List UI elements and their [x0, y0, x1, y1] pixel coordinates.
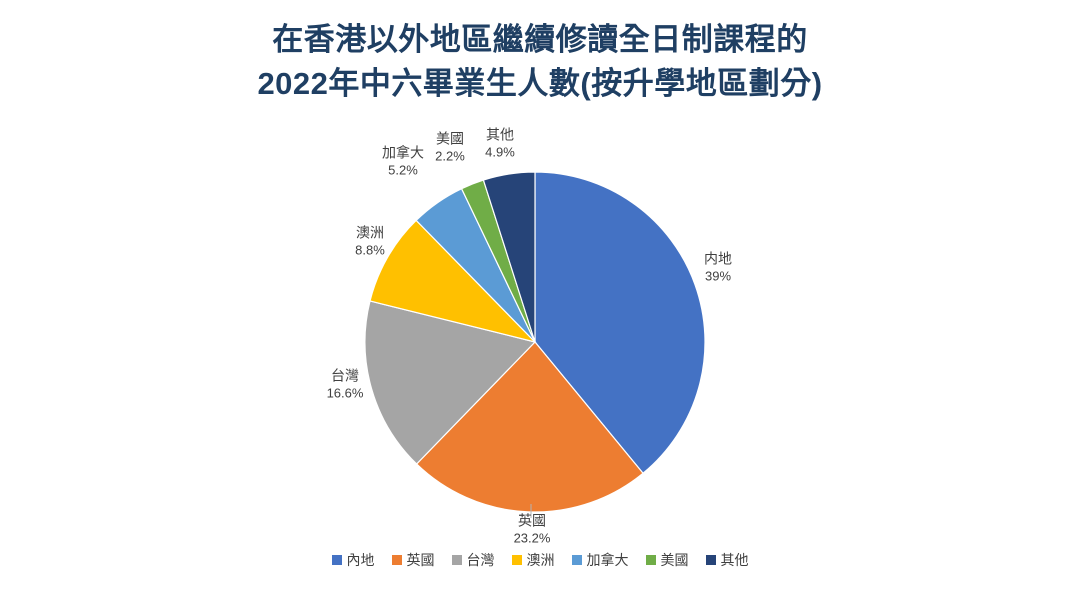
legend-label: 其他	[721, 550, 749, 570]
pie-slices-group	[365, 172, 705, 512]
legend-swatch-icon	[572, 555, 582, 565]
pie-slice-label-percent: 2.2%	[435, 149, 465, 166]
pie-slice-label-category: 美國	[435, 131, 465, 149]
legend-label: 台灣	[467, 550, 495, 570]
legend-label: 加拿大	[587, 550, 629, 570]
pie-slice-label: 英國23.2%	[514, 513, 551, 548]
pie-slice-label-category: 加拿大	[382, 145, 424, 163]
legend-swatch-icon	[392, 555, 402, 565]
legend-item[interactable]: 美國	[646, 550, 689, 570]
legend-swatch-icon	[706, 555, 716, 565]
legend-item[interactable]: 其他	[706, 550, 749, 570]
pie-plot-area: 内地39%英國23.2%台灣16.6%澳洲8.8%加拿大5.2%美國2.2%其他…	[0, 120, 1080, 540]
pie-chart-svg	[0, 120, 1080, 540]
pie-slice-label-category: 台灣	[327, 368, 364, 386]
pie-slice-label-category: 其他	[485, 127, 515, 145]
pie-slice-label: 台灣16.6%	[327, 368, 364, 403]
pie-slice-label-percent: 39%	[704, 269, 732, 286]
legend-swatch-icon	[512, 555, 522, 565]
pie-slice-label-percent: 8.8%	[355, 243, 385, 260]
legend-swatch-icon	[452, 555, 462, 565]
legend-label: 澳洲	[527, 550, 555, 570]
pie-slice-label-percent: 23.2%	[514, 531, 551, 548]
pie-slice-label-percent: 4.9%	[485, 145, 515, 162]
pie-slice-label: 澳洲8.8%	[355, 225, 385, 260]
legend-item[interactable]: 澳洲	[512, 550, 555, 570]
legend-item[interactable]: 加拿大	[572, 550, 629, 570]
legend-swatch-icon	[646, 555, 656, 565]
legend-item[interactable]: 英國	[392, 550, 435, 570]
pie-slice-label-category: 澳洲	[355, 225, 385, 243]
chart-legend: 內地英國台灣澳洲加拿大美國其他	[0, 550, 1080, 570]
legend-item[interactable]: 台灣	[452, 550, 495, 570]
pie-slice-label-category: 英國	[514, 513, 551, 531]
pie-slice-label: 美國2.2%	[435, 131, 465, 166]
chart-title: 在香港以外地區繼續修讀全日制課程的 2022年中六畢業生人數(按升學地區劃分)	[0, 18, 1080, 106]
legend-label: 美國	[661, 550, 689, 570]
pie-slice-label: 内地39%	[704, 251, 732, 286]
legend-label: 英國	[407, 550, 435, 570]
pie-slice-label-percent: 16.6%	[327, 386, 364, 403]
pie-slice-label-percent: 5.2%	[382, 163, 424, 180]
pie-slice-label-category: 内地	[704, 251, 732, 269]
legend-label: 內地	[347, 550, 375, 570]
legend-swatch-icon	[332, 555, 342, 565]
legend-item[interactable]: 內地	[332, 550, 375, 570]
pie-slice-label: 其他4.9%	[485, 127, 515, 162]
pie-slice-label: 加拿大5.2%	[382, 145, 424, 180]
chart-page: 在香港以外地區繼續修讀全日制課程的 2022年中六畢業生人數(按升學地區劃分) …	[0, 0, 1080, 608]
